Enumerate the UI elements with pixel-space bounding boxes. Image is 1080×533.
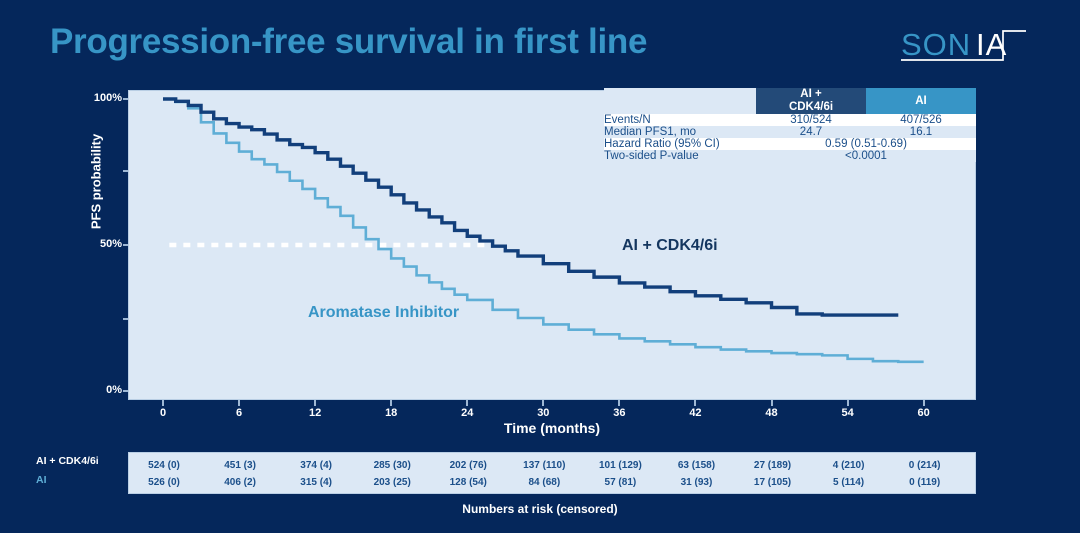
stats-header-blank xyxy=(604,88,756,114)
risk-cell: 451 (3) xyxy=(224,460,256,471)
stats-header-ai: AI xyxy=(866,88,976,114)
curve-label-combo: AI + CDK4/6i xyxy=(622,237,718,255)
x-tick-label-60: 60 xyxy=(918,407,930,419)
x-tick-mark-54 xyxy=(847,400,849,406)
risk-cell: 374 (4) xyxy=(300,460,332,471)
x-tick-mark-60 xyxy=(923,400,925,406)
numbers-at-risk-table: AI + CDK4/6i AI 524 (0)451 (3)374 (4)285… xyxy=(0,452,1080,498)
x-tick-mark-36 xyxy=(618,400,620,406)
risk-cell: 524 (0) xyxy=(148,460,180,471)
risk-values-grid: 524 (0)451 (3)374 (4)285 (30)202 (76)137… xyxy=(128,452,976,494)
stats-header-combo-line1: AI + xyxy=(756,88,866,101)
risk-cell: 406 (2) xyxy=(224,477,256,488)
risk-cell: 27 (189) xyxy=(754,460,791,471)
risk-cell: 285 (30) xyxy=(374,460,411,471)
stats-value-median-combo: 24.7 xyxy=(756,126,866,138)
x-tick-label-12: 12 xyxy=(309,407,321,419)
risk-cell: 202 (76) xyxy=(450,460,487,471)
risk-cell: 101 (129) xyxy=(599,460,642,471)
x-tick-label-42: 42 xyxy=(689,407,701,419)
x-tick-label-36: 36 xyxy=(613,407,625,419)
x-tick-label-30: 30 xyxy=(537,407,549,419)
risk-cell: 128 (54) xyxy=(450,477,487,488)
stats-header-combo: AI + CDK4/6i xyxy=(756,88,866,114)
x-tick-label-18: 18 xyxy=(385,407,397,419)
x-tick-mark-42 xyxy=(694,400,696,406)
risk-cell: 31 (93) xyxy=(681,477,713,488)
risk-cell: 63 (158) xyxy=(678,460,715,471)
x-tick-label-0: 0 xyxy=(160,407,166,419)
stats-value-pvalue: <0.0001 xyxy=(756,150,976,162)
risk-row-label-ai: AI xyxy=(36,474,128,486)
stats-header-combo-line2: CDK4/6i xyxy=(756,101,866,114)
y-axis: PFS probability 100% 50% 0% xyxy=(60,90,122,400)
stats-row-events: Events/N 310/524 407/526 xyxy=(604,114,976,126)
risk-cell: 0 (119) xyxy=(909,477,940,488)
risk-cell: 84 (68) xyxy=(528,477,560,488)
risk-cell: 137 (110) xyxy=(523,460,565,471)
x-tick-mark-48 xyxy=(771,400,773,406)
risk-cell: 203 (25) xyxy=(374,477,411,488)
stats-row-hazard-ratio: Hazard Ratio (95% CI) 0.59 (0.51-0.69) xyxy=(604,138,976,150)
y-tick-100: 100% xyxy=(94,92,122,104)
x-tick-label-54: 54 xyxy=(841,407,853,419)
x-tick-label-6: 6 xyxy=(236,407,242,419)
svg-text:SON: SON xyxy=(901,27,971,62)
x-axis-title: Time (months) xyxy=(128,420,976,436)
risk-cell: 315 (4) xyxy=(300,477,332,488)
x-tick-label-24: 24 xyxy=(461,407,473,419)
statistics-table: AI + CDK4/6i AI Events/N 310/524 407/526… xyxy=(604,88,976,162)
x-tick-mark-18 xyxy=(390,400,392,406)
stats-value-events-combo: 310/524 xyxy=(756,114,866,126)
x-tick-mark-30 xyxy=(542,400,544,406)
x-tick-label-48: 48 xyxy=(765,407,777,419)
risk-table-caption: Numbers at risk (censored) xyxy=(0,502,1080,516)
page-title: Progression-free survival in first line xyxy=(50,22,647,62)
stats-header-row: AI + CDK4/6i AI xyxy=(604,88,976,114)
stats-label-pvalue: Two-sided P-value xyxy=(604,150,756,162)
x-tick-mark-6 xyxy=(238,400,240,406)
risk-cell: 0 (214) xyxy=(909,460,941,471)
curve-label-ai: Aromatase Inhibitor xyxy=(308,304,459,322)
sonia-logo: SON IA xyxy=(898,24,1048,68)
stats-row-pvalue: Two-sided P-value <0.0001 xyxy=(604,150,976,162)
risk-row-labels: AI + CDK4/6i AI xyxy=(36,452,128,494)
risk-cell: 5 (114) xyxy=(833,477,864,488)
stats-value-median-ai: 16.1 xyxy=(866,126,976,138)
y-tick-50: 50% xyxy=(100,238,122,250)
stats-label-median: Median PFS1, mo xyxy=(604,126,756,138)
risk-cell: 526 (0) xyxy=(148,477,180,488)
risk-cell: 17 (105) xyxy=(754,477,791,488)
risk-cell: 57 (81) xyxy=(605,477,637,488)
stats-value-events-ai: 407/526 xyxy=(866,114,976,126)
stats-label-events: Events/N xyxy=(604,114,756,126)
x-tick-mark-12 xyxy=(314,400,316,406)
x-tick-mark-0 xyxy=(162,400,164,406)
y-tick-0: 0% xyxy=(106,384,122,396)
stats-value-hazard-ratio: 0.59 (0.51-0.69) xyxy=(756,138,976,150)
stats-label-hazard-ratio: Hazard Ratio (95% CI) xyxy=(604,138,756,150)
x-tick-mark-24 xyxy=(466,400,468,406)
stats-row-median: Median PFS1, mo 24.7 16.1 xyxy=(604,126,976,138)
risk-cell: 4 (210) xyxy=(833,460,865,471)
risk-row-label-combo: AI + CDK4/6i xyxy=(36,455,128,467)
